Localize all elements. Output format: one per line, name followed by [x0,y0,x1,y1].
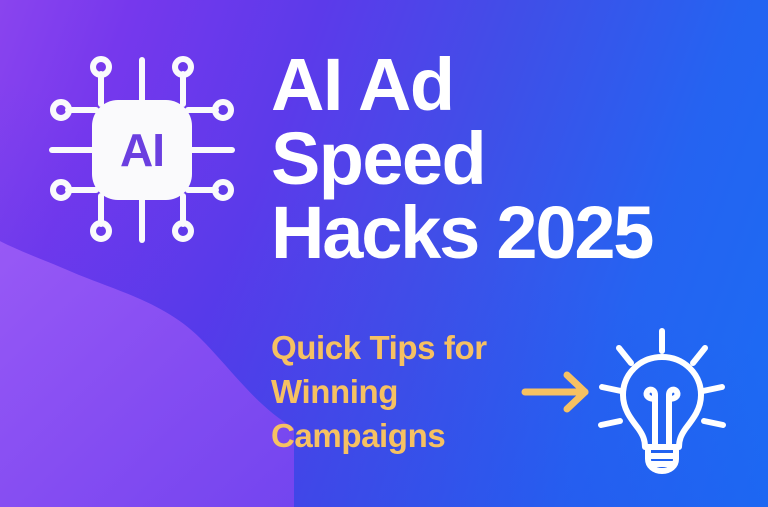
headline-line-1: AI Ad [271,48,768,122]
page-title: AI Ad Speed Hacks 2025 [271,48,768,270]
ai-chip-icon: AI [44,52,240,248]
decorative-blob [0,238,294,507]
promo-banner: AI AI Ad Speed Hacks 2025 Quick Tips for… [0,0,768,507]
subtitle-line-3: Campaigns [271,414,523,458]
subtitle-line-2: Winning [271,370,523,414]
chip-label: AI [120,124,164,176]
headline-line-2: Speed [271,122,768,196]
arrow-right-icon [519,369,597,415]
lightbulb-idea-icon [592,325,732,477]
headline-line-3: Hacks 2025 [271,196,768,270]
page-subtitle: Quick Tips for Winning Campaigns [271,326,523,458]
subtitle-line-1: Quick Tips for [271,326,523,370]
